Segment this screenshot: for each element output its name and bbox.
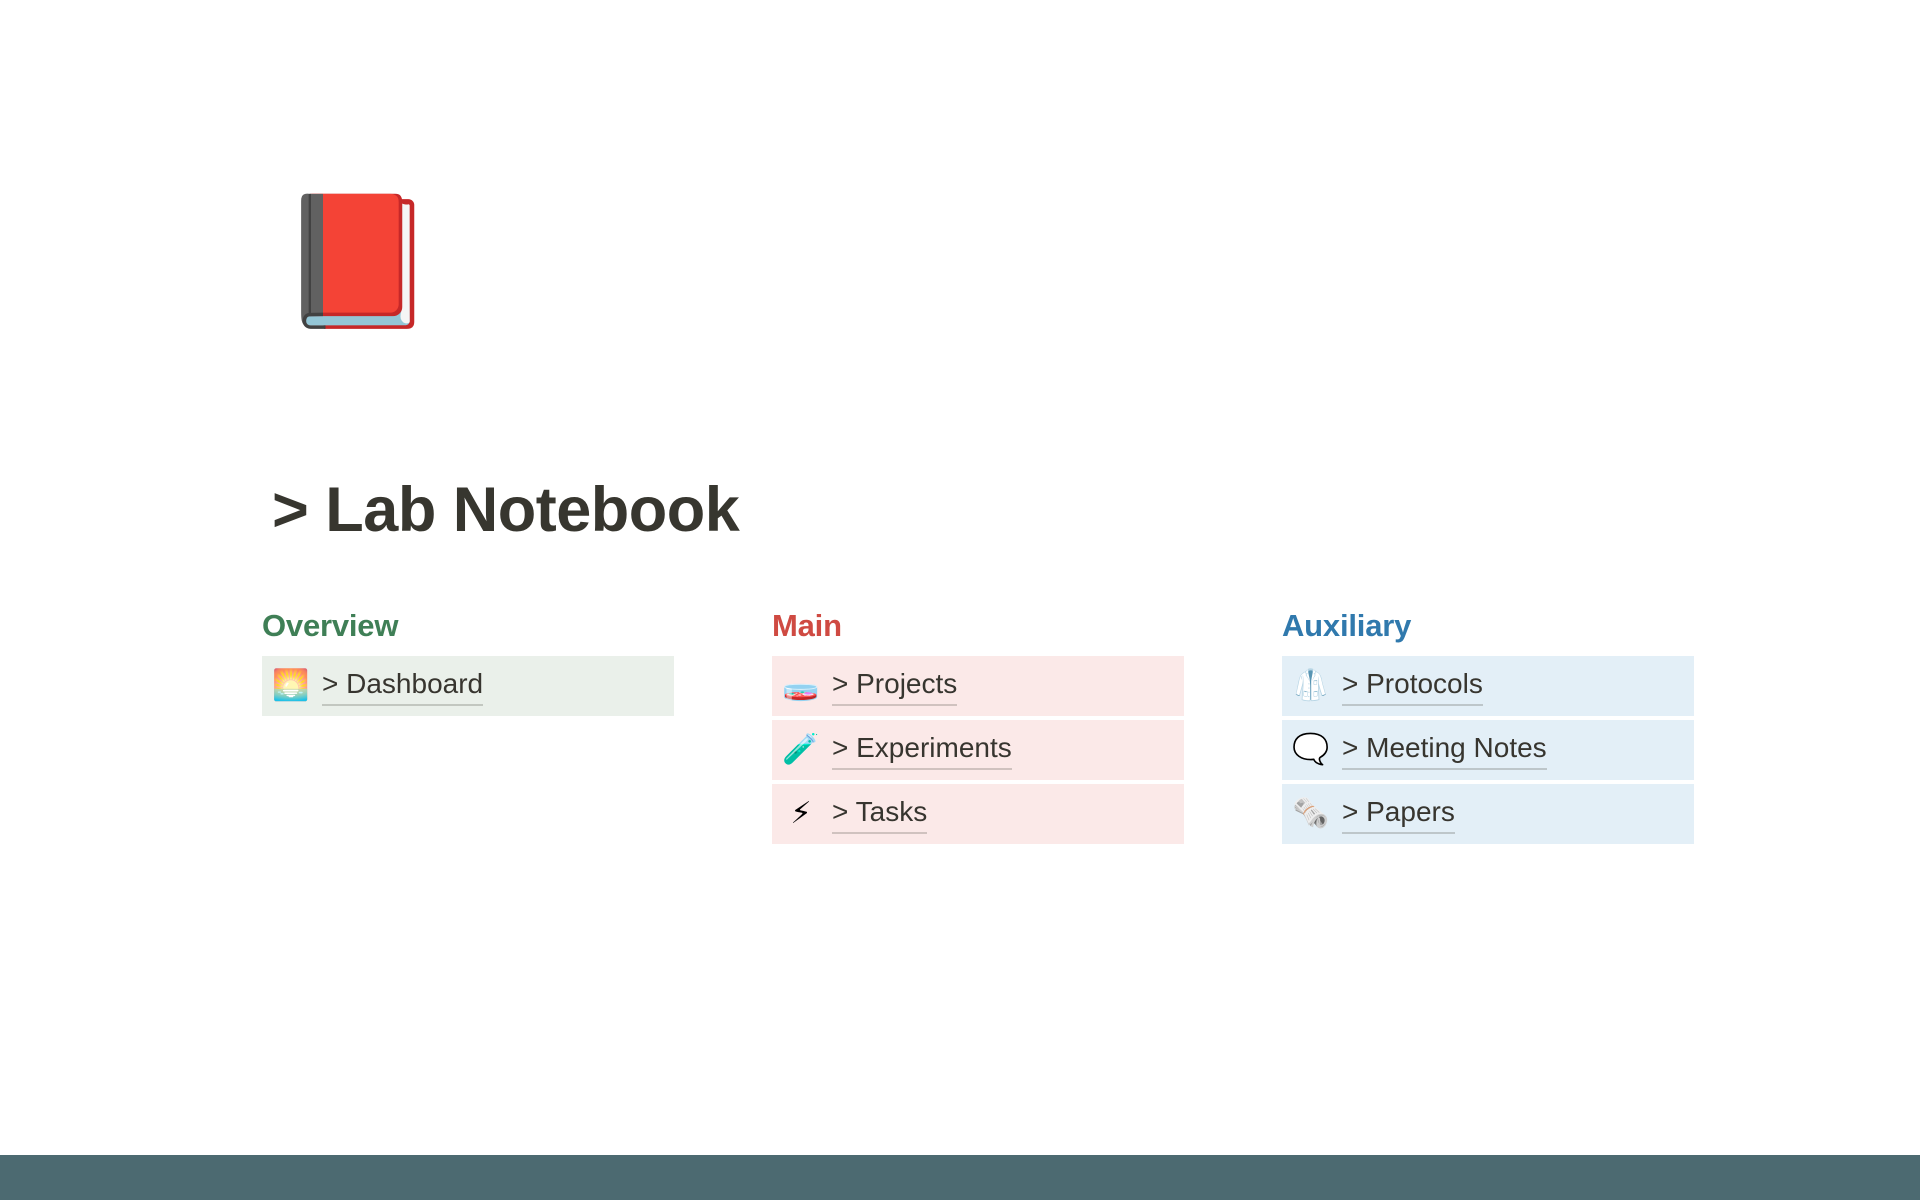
link-row-protocols[interactable]: 🥼 > Protocols (1282, 656, 1694, 716)
column-overview: Overview 🌅 > Dashboard (262, 608, 674, 716)
column-auxiliary: Auxiliary 🥼 > Protocols 🗨️ > Meeting Not… (1282, 608, 1694, 844)
link-label-meeting-notes: > Meeting Notes (1342, 731, 1547, 770)
link-label-dashboard: > Dashboard (322, 667, 483, 706)
link-label-tasks: > Tasks (832, 795, 927, 834)
test-tube-icon: 🧪 (782, 731, 820, 769)
link-label-experiments: > Experiments (832, 731, 1012, 770)
high-voltage-icon: ⚡ (782, 795, 820, 833)
column-main: Main 🧫 > Projects 🧪 > Experiments ⚡ > Ta… (772, 608, 1184, 844)
petri-dish-icon: 🧫 (782, 667, 820, 705)
sunrise-framed-picture-icon: 🌅 (272, 667, 310, 705)
link-row-meeting-notes[interactable]: 🗨️ > Meeting Notes (1282, 720, 1694, 780)
column-heading-auxiliary: Auxiliary (1282, 608, 1694, 644)
link-row-projects[interactable]: 🧫 > Projects (772, 656, 1184, 716)
link-row-papers[interactable]: 🗞️ > Papers (1282, 784, 1694, 844)
link-columns: Overview 🌅 > Dashboard Main 🧫 > Projects… (0, 608, 1920, 908)
lab-coat-icon: 🥼 (1292, 667, 1330, 705)
link-label-protocols: > Protocols (1342, 667, 1483, 706)
column-heading-main: Main (772, 608, 1184, 644)
footer-bar (0, 1155, 1920, 1200)
rolled-up-newspaper-icon: 🗞️ (1292, 795, 1330, 833)
link-label-papers: > Papers (1342, 795, 1455, 834)
link-label-projects: > Projects (832, 667, 957, 706)
closed-book-emoji[interactable]: 📕 (278, 182, 418, 342)
page-title: > Lab Notebook (272, 474, 739, 546)
link-row-experiments[interactable]: 🧪 > Experiments (772, 720, 1184, 780)
column-rows-main: 🧫 > Projects 🧪 > Experiments ⚡ > Tasks (772, 656, 1184, 844)
column-rows-auxiliary: 🥼 > Protocols 🗨️ > Meeting Notes 🗞️ > Pa… (1282, 656, 1694, 844)
column-rows-overview: 🌅 > Dashboard (262, 656, 674, 716)
speech-balloon-icon: 🗨️ (1292, 731, 1330, 769)
link-row-tasks[interactable]: ⚡ > Tasks (772, 784, 1184, 844)
column-heading-overview: Overview (262, 608, 674, 644)
page-root: 📕 > Lab Notebook Overview 🌅 > Dashboard … (0, 0, 1920, 1200)
link-row-dashboard[interactable]: 🌅 > Dashboard (262, 656, 674, 716)
